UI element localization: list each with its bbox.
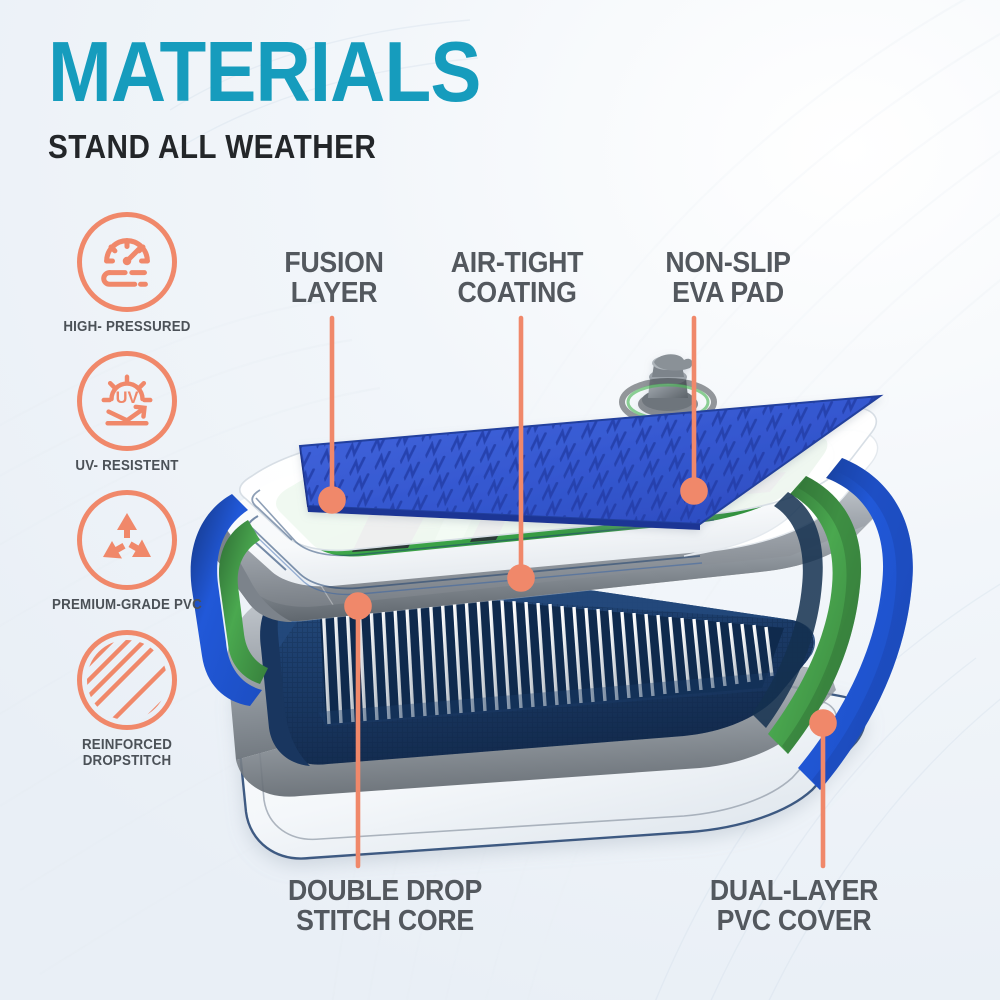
feature-badge (77, 490, 177, 590)
feature-icon-rail: HIGH- PRESSURED UV UV- RESISTENT (42, 212, 212, 785)
feature-label: HIGH- PRESSURED (49, 319, 205, 335)
feature-item-premium-grade-pvc: PREMIUM-GRADE PVC (42, 490, 212, 613)
feature-item-uv-resistent: UV UV- RESISTENT (42, 351, 212, 474)
feature-label: PREMIUM-GRADE PVC (49, 597, 205, 613)
page-subtitle: STAND ALL WEATHER (48, 130, 480, 163)
svg-text:UV: UV (116, 389, 139, 407)
feature-badge (77, 212, 177, 312)
page-title: MATERIALS (48, 34, 480, 112)
callout-label-non-slip-eva-pad: NON-SLIP EVA PAD (649, 248, 807, 308)
pressure-gauge-icon (96, 231, 158, 293)
callout-label-dual-layer-pvc: DUAL-LAYER PVC COVER (695, 876, 894, 936)
feature-badge: UV (77, 351, 177, 451)
feature-item-high-pressured: HIGH- PRESSURED (42, 212, 212, 335)
feature-item-reinforced-dropstitch: REINFORCED DROPSTITCH (42, 630, 212, 769)
header: MATERIALS STAND ALL WEATHER (48, 34, 529, 163)
uv-sun-icon: UV (96, 370, 158, 432)
feature-label: REINFORCED DROPSTITCH (49, 737, 205, 769)
recycle-icon (95, 508, 159, 572)
feature-badge (77, 630, 177, 730)
hatched-circle-icon (85, 638, 169, 722)
callout-label-fusion-layer: FUSION LAYER (274, 248, 394, 308)
feature-label: UV- RESISTENT (49, 458, 205, 474)
callout-label-air-tight-coating: AIR-TIGHT COATING (435, 248, 599, 308)
callout-label-drop-stitch-core: DOUBLE DROP STITCH CORE (275, 876, 496, 936)
